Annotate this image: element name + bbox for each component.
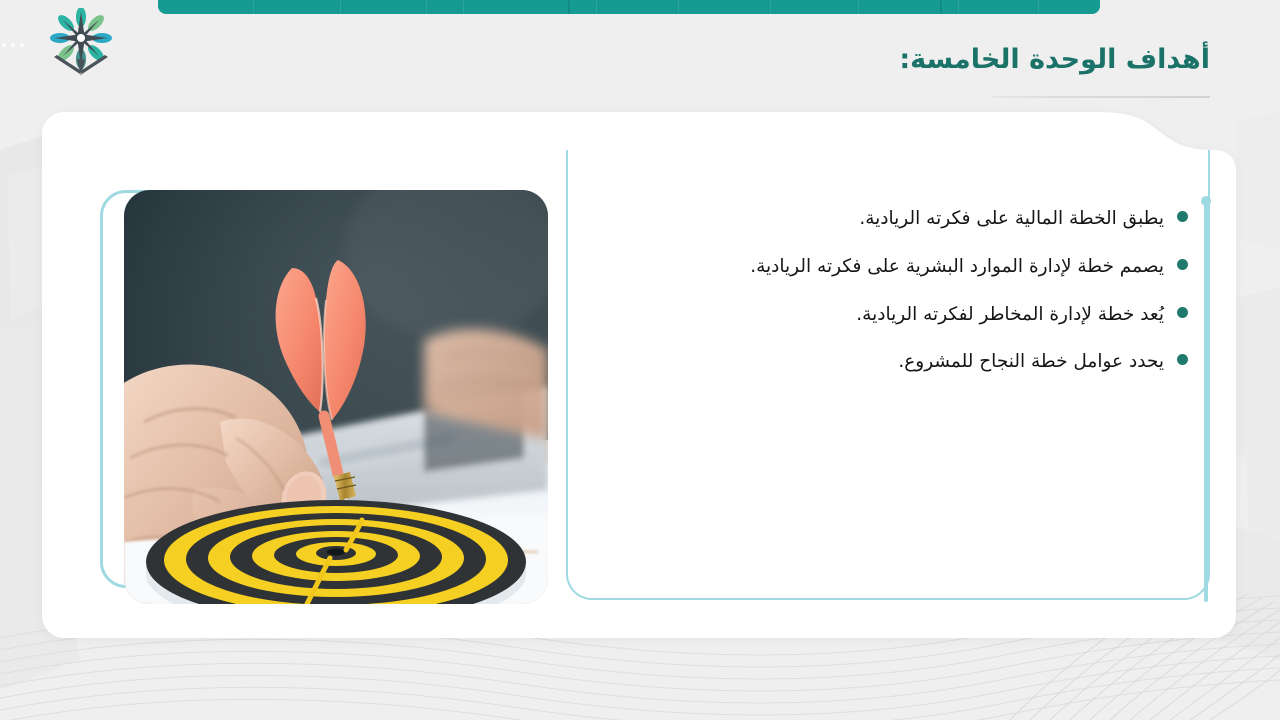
list-item: يصمم خطة لإدارة الموارد البشرية على فكرت… (668, 254, 1188, 281)
bullet-dot-icon (1177, 211, 1188, 222)
title-underline (992, 96, 1210, 98)
right-accent-dot (1201, 196, 1211, 206)
objectives-list: يطبق الخطة المالية على فكرته الريادية. ي… (668, 206, 1188, 397)
page-title-block: أهداف الوحدة الخامسة: (610, 44, 1210, 76)
objective-text: يُعد خطة لإدارة المخاطر لفكرته الريادية. (856, 302, 1164, 329)
objective-text: يصمم خطة لإدارة الموارد البشرية على فكرت… (750, 254, 1164, 281)
list-item: يطبق الخطة المالية على فكرته الريادية. (668, 206, 1188, 233)
left-edge-dots (2, 43, 24, 47)
list-item: يُعد خطة لإدارة المخاطر لفكرته الريادية. (668, 302, 1188, 329)
top-accent-bar (158, 0, 1100, 14)
institution-logo (46, 8, 116, 80)
page-title: أهداف الوحدة الخامسة: (610, 44, 1210, 76)
slide-root: أهداف الوحدة الخامسة: (0, 0, 1280, 720)
objective-text: يحدد عوامل خطة النجاح للمشروع. (898, 349, 1164, 376)
hand-dart-target-photo (124, 190, 548, 604)
objective-text: يطبق الخطة المالية على فكرته الريادية. (859, 206, 1164, 233)
bullet-dot-icon (1177, 354, 1188, 365)
bullet-dot-icon (1177, 259, 1188, 270)
bullet-dot-icon (1177, 307, 1188, 318)
list-item: يحدد عوامل خطة النجاح للمشروع. (668, 349, 1188, 376)
right-accent-line (1204, 198, 1208, 602)
